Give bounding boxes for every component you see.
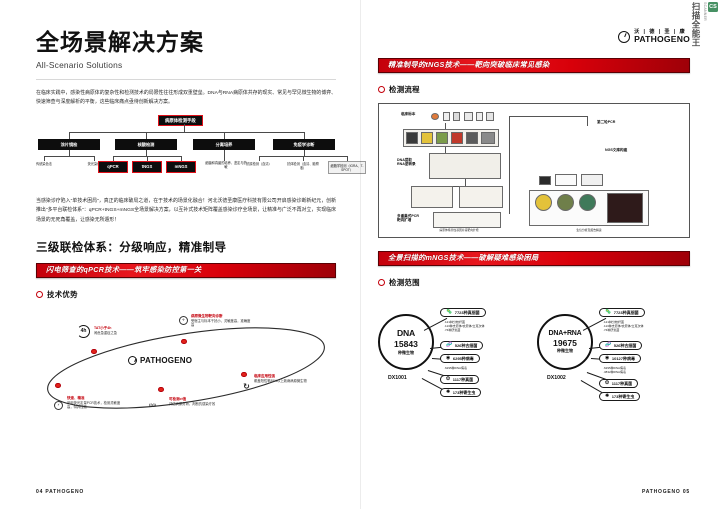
tree-edge xyxy=(303,156,304,161)
flow-arrow xyxy=(587,116,588,126)
tree-node-immuno: 免疫学诊断 xyxy=(273,139,335,150)
footer-left: 04 PATHOGENO xyxy=(36,489,84,495)
watermark-title: 扫描全能王 xyxy=(691,2,700,47)
pathogeno-logo-icon xyxy=(128,356,137,365)
scope-item-fungus: ❂ 1117种真菌 xyxy=(599,379,638,389)
extraction-illustration xyxy=(429,153,501,179)
archaea-icon: 🧬 xyxy=(446,343,452,348)
scope-item-label: 526种古细菌 xyxy=(455,343,478,349)
tree-leaf-traditional-stain: 传统染色法 xyxy=(24,162,64,166)
pie-chart-3 xyxy=(579,194,596,211)
tree-edge xyxy=(44,156,94,157)
tree-edge xyxy=(69,132,70,139)
flow-label-library: NGS文库构建 xyxy=(605,148,627,153)
scope-item-parasite: ✺ 173种寄生虫 xyxy=(599,392,640,402)
tree-leaf-mngs: mNGS xyxy=(166,161,196,173)
pathogeno-logo-icon xyxy=(618,31,630,43)
dna-branch-illustration xyxy=(411,186,453,208)
sample-icon-tube xyxy=(443,112,450,121)
virus-icon: ◉ xyxy=(605,356,609,361)
ring-icon xyxy=(36,291,43,298)
grid-icon xyxy=(555,174,577,186)
fungus-icon: ❂ xyxy=(605,381,609,386)
tree-edge xyxy=(69,132,305,133)
tree-leaf-qpcr: qPCR xyxy=(98,161,128,173)
tree-edge xyxy=(146,132,147,139)
scope-item-virus: ◉ 10127种病毒 xyxy=(599,354,641,364)
oval-label-3: 临床应用性强 覆盖阳性率85%以上致病病原微生物 xyxy=(254,374,312,384)
flow-arrow xyxy=(465,179,466,186)
right-page: 沃 | 德 | 圣 | 康 PATHOGENO 精准制导的tNGS技术——靶向突… xyxy=(360,0,720,509)
ct-icon: ((•)) xyxy=(148,400,157,409)
body-paragraph-2: 当感染诊疗陷入"单技术困局"，真正的临床破局之道，在于技术的场景化融合！河北沃德… xyxy=(36,197,336,224)
scope-item-bacteria: 🦠 7723种真细菌 xyxy=(440,308,486,318)
fungus-icon: ❂ xyxy=(446,377,450,382)
scope-item-label: 10127种病毒 xyxy=(612,356,635,362)
footer-brand: PATHOGENO xyxy=(642,489,681,495)
tree-leaf-tngs: tNGS xyxy=(132,161,162,173)
footer-brand: PATHOGENO xyxy=(45,489,84,495)
tree-node-nucleic: 核酸检测 xyxy=(115,139,177,150)
bacteria-icon: 🦠 xyxy=(446,310,452,315)
watermark-badge-icon: CS xyxy=(708,2,718,12)
tree-edge xyxy=(224,132,225,139)
bolt-icon: ⚡ xyxy=(54,401,63,410)
pcr1-illustration xyxy=(433,212,501,228)
tree-node-culture: 分离培养 xyxy=(193,139,255,150)
oval-dot-1 xyxy=(91,349,97,355)
oval-label-5: 快速、精准 采用荧光定量PCR技术，检测灵敏度高，特异性高 xyxy=(67,396,125,410)
footer-page-number: 04 xyxy=(36,489,43,495)
scope-item-parasite: ✺ 173种寄生虫 xyxy=(440,388,481,398)
scope-item-fungus: ❂ 1117种真菌 xyxy=(440,375,479,385)
scope-circle-dna-rna: DNA+RNA 19675 种微生物 xyxy=(537,314,593,370)
scope-item-label: 173种寄生虫 xyxy=(453,390,476,396)
tree-edge xyxy=(184,124,185,132)
scope-item-label: 1117种真菌 xyxy=(612,381,632,387)
oval-label-1: TAT小于4h 闲危急重症之急 xyxy=(94,326,150,336)
parasite-icon: ✺ xyxy=(446,390,450,395)
tree-edge xyxy=(44,156,45,161)
archaea-icon: 🧬 xyxy=(605,343,611,348)
subhead-tech-advantage: 技术优势 xyxy=(36,289,336,300)
heatmap-panel xyxy=(607,193,643,223)
tree-edge xyxy=(304,132,305,139)
flow-arrow xyxy=(509,116,587,117)
scope-item-label: 6295种病毒 xyxy=(453,356,474,362)
subhead-label: 检测流程 xyxy=(389,84,420,95)
scope-item-archaea: 🧬 526种古细菌 xyxy=(440,341,483,351)
banner-mngs: 全景扫描的mNGS技术——破解疑难感染困局 xyxy=(378,251,690,266)
chromatogram-icon xyxy=(581,174,603,186)
flow-label-pcr1: 多重巢式PCR 靶向扩增 xyxy=(397,214,419,223)
page-title: 全场景解决方案 xyxy=(36,30,336,55)
footer-page-number: 05 xyxy=(683,489,690,495)
scope-item-label: 7723种真细菌 xyxy=(614,310,639,316)
pathogen-icon-bacteria xyxy=(406,132,418,144)
library-illustration xyxy=(559,144,603,158)
ring-icon xyxy=(378,86,385,93)
chip-icon xyxy=(539,176,551,185)
scope-dna-rna: DNA+RNA 19675 种微生物 DX1002 🦠 7723种真细菌 ·12… xyxy=(537,296,690,408)
scope-count: 15843 xyxy=(394,339,418,349)
scope-notes-b: ·6295种DNA病毒 xyxy=(444,366,467,370)
tree-leaf-antibody: 抗体检测（血清、脑脊液） xyxy=(285,162,321,170)
scope-count: 19675 xyxy=(553,338,577,348)
flow-label-sample: 临床标本 xyxy=(401,112,415,117)
watermark-subtitle: SCANNER xyxy=(702,2,706,21)
rna-branch-illustration xyxy=(459,186,503,208)
scope-notes-b: ·6295种DNA病毒 ·3832种RNA病毒 xyxy=(603,366,626,375)
flow-arrow xyxy=(509,116,510,214)
intro-paragraph: 在临床实践中，感染性病原体的复杂性和检测技术的局限性往往形成双重壁垒。DNA与R… xyxy=(36,89,336,107)
flow-label-extract: DNA提取 RNA逆转录 xyxy=(397,158,416,167)
pcr2-illustration xyxy=(547,126,627,140)
sample-icon-csf xyxy=(476,112,483,121)
oval-label-2: 病原微生物靶向诊断 受宿主与标本干扰小，灵敏度高，准确度高 xyxy=(191,314,253,328)
bacteria-icon: 🦠 xyxy=(605,310,611,315)
flow-caption-right: 生信分析及报告解读 xyxy=(541,229,637,232)
sample-icon-other xyxy=(486,112,494,121)
divider xyxy=(36,79,336,80)
oval-dot-2 xyxy=(181,339,187,345)
scope-dna: DNA 15843 种微生物 DX1001 🦠 7723种真细菌 ·121种分枝… xyxy=(378,296,531,408)
pathogen-icon-archaea xyxy=(466,132,478,144)
footer-right: PATHOGENO 05 xyxy=(642,489,690,495)
scope-code: DX1002 xyxy=(547,375,566,381)
scope-notes-a: ·121种分枝杆菌 ·113种支原体/衣原体/立克次体 ·74种厌氧菌 xyxy=(603,320,643,333)
brand-logo: 沃 | 德 | 圣 | 康 PATHOGENO xyxy=(378,30,690,44)
banner-qpcr-text: 闪电筛查的qPCR技术——筑牢感染防控第一关 xyxy=(46,265,202,275)
left-page: 全场景解决方案 All-Scenario Solutions 在临床实践中，感染… xyxy=(0,0,360,509)
banner-tngs: 精准制导的tNGS技术——靶向突破临床常见感染 xyxy=(378,58,690,73)
tngs-workflow-figure: 临床标本 DNA提取 RNA逆转录 多重 xyxy=(378,103,690,238)
scope-code: DX1001 xyxy=(388,375,407,381)
virus-icon: ◉ xyxy=(446,356,450,361)
flow-caption-left: 病原体特异性基因片段靶向扩增 xyxy=(413,229,505,232)
banner-mngs-text: 全景扫描的mNGS技术——破解疑难感染困局 xyxy=(388,253,538,263)
pie-chart-2 xyxy=(557,194,574,211)
page-subtitle: All-Scenario Solutions xyxy=(36,60,336,70)
scope-item-label: 526种古细菌 xyxy=(614,343,637,349)
oval-center-brand: PATHOGENO xyxy=(128,356,192,365)
pathogen-icon-fungus xyxy=(421,132,433,144)
scope-unit: 种微生物 xyxy=(398,350,414,356)
oval-dot-3 xyxy=(241,372,247,378)
scope-name: DNA xyxy=(397,328,415,338)
scope-unit: 种微生物 xyxy=(557,348,573,354)
subhead-detection-scope: 检测范围 xyxy=(378,277,690,288)
subhead-label: 检测范围 xyxy=(389,277,420,288)
scope-item-virus: ◉ 6295种病毒 xyxy=(440,354,480,364)
oval-label-4: 可检测ct值 评估病原负荷，判断抗感染疗效 xyxy=(169,397,221,407)
ring-icon xyxy=(378,279,385,286)
sample-icon-blood xyxy=(431,113,439,120)
scope-item-label: 1117种真菌 xyxy=(453,377,473,383)
subhead-label: 技术优势 xyxy=(47,289,78,300)
sample-icon-swab xyxy=(453,112,460,121)
sample-icon-lung xyxy=(464,112,473,121)
pathogen-icon-virus xyxy=(436,132,448,144)
target-icon: ✛ xyxy=(179,316,188,325)
scope-circle-dna: DNA 15843 种微生物 xyxy=(378,314,434,370)
magazine-spread: 全场景解决方案 All-Scenario Solutions 在临床实践中，感染… xyxy=(0,0,720,509)
sequencing-reads-illustration xyxy=(551,160,613,174)
banner-qpcr: 闪电筛查的qPCR技术——筑牢感染防控第一关 xyxy=(36,263,336,278)
scope-item-archaea: 🧬 526种古细菌 xyxy=(599,341,642,351)
banner-tngs-text: 精准制导的tNGS技术——靶向突破临床常见感染 xyxy=(388,60,549,70)
tree-root: 病原体检测手段 xyxy=(158,115,203,126)
camscanner-watermark: 扫描全能王 SCANNER CS xyxy=(691,2,718,47)
tree-edge xyxy=(224,150,225,161)
scope-item-label: 7723种真细菌 xyxy=(455,310,480,316)
pathogen-icon-worm xyxy=(481,132,495,144)
scope-item-bacteria: 🦠 7723种真细菌 xyxy=(599,308,645,318)
detection-methods-tree: 病原体检测手段 涂片镜检 核酸检测 分离培养 免疫学诊断 传统染色法 荧光染色 xyxy=(36,115,336,193)
section-title: 三级联检体系：分级响应，精准制导 xyxy=(36,239,336,255)
tree-edge xyxy=(259,156,260,161)
scope-item-label: 173种寄生虫 xyxy=(612,394,635,400)
pathogen-icon-parasite xyxy=(451,132,463,144)
tree-leaf-antigen: 抗原检测（血清） xyxy=(242,162,276,166)
scope-notes-a: ·121种分枝杆菌 ·113种支原体/衣原体/立克次体 ·74种厌氧菌 xyxy=(444,320,484,333)
scope-name: DNA+RNA xyxy=(548,330,581,337)
oval-dot-4 xyxy=(158,387,164,393)
detection-scope-panels: DNA 15843 种微生物 DX1001 🦠 7723种真细菌 ·121种分枝… xyxy=(378,296,690,411)
parasite-icon: ✺ xyxy=(605,394,609,399)
tree-edge xyxy=(94,156,95,161)
pie-chart-1 xyxy=(535,194,552,211)
oval-center-label: PATHOGENO xyxy=(140,356,192,365)
qpcr-advantage-oval: PATHOGENO 4h TAT小于4h 闲危急重症之急 ✛ 病原微生物靶向诊断… xyxy=(36,308,336,426)
refresh-icon: ↻ xyxy=(242,382,251,391)
subhead-detection-flow: 检测流程 xyxy=(378,84,690,95)
oval-dot-5 xyxy=(55,383,61,389)
tat-4h-icon: 4h xyxy=(77,325,90,338)
flow-label-pcr2: 第二轮PCR xyxy=(597,120,615,125)
spread-gutter xyxy=(360,0,361,509)
brand-name-en: PATHOGENO xyxy=(634,35,690,44)
tree-node-smear: 涂片镜检 xyxy=(38,139,100,150)
